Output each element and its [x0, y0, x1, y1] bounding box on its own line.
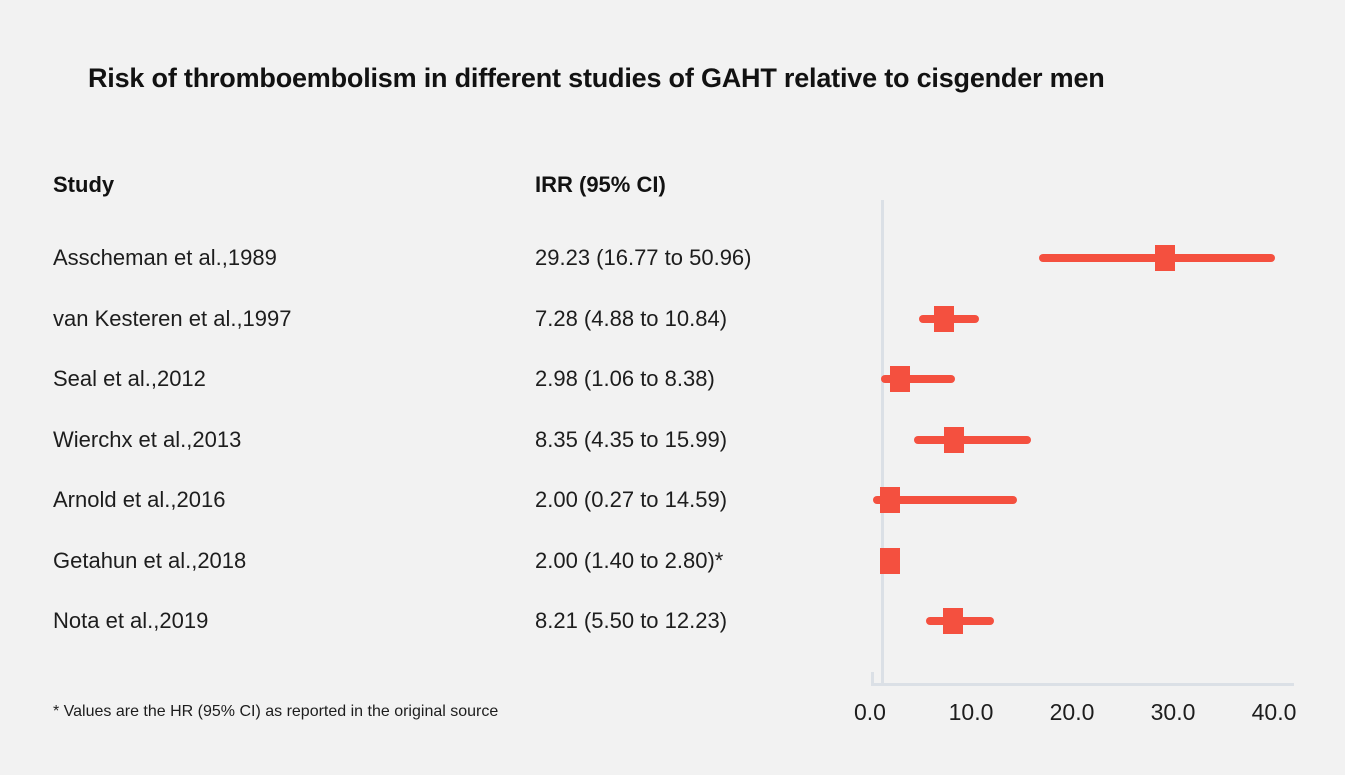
irr-value: 2.98 (1.06 to 8.38)	[535, 364, 715, 394]
footnote: * Values are the HR (95% CI) as reported…	[53, 703, 498, 721]
irr-value: 7.28 (4.88 to 10.84)	[535, 304, 727, 334]
study-rows: Asscheman et al.,198929.23 (16.77 to 50.…	[0, 0, 1345, 775]
study-label: Arnold et al.,2016	[53, 485, 225, 515]
irr-value: 8.21 (5.50 to 12.23)	[535, 606, 727, 636]
table-row: Wierchx et al.,20138.35 (4.35 to 15.99)	[0, 425, 1345, 485]
irr-value: 8.35 (4.35 to 15.99)	[535, 425, 727, 455]
irr-value: 2.00 (1.40 to 2.80)*	[535, 546, 723, 576]
table-row: Getahun et al.,20182.00 (1.40 to 2.80)*	[0, 546, 1345, 606]
study-label: Getahun et al.,2018	[53, 546, 246, 576]
study-label: Seal et al.,2012	[53, 364, 206, 394]
study-label: Nota et al.,2019	[53, 606, 208, 636]
table-row: Nota et al.,20198.21 (5.50 to 12.23)	[0, 606, 1345, 666]
table-row: Asscheman et al.,198929.23 (16.77 to 50.…	[0, 243, 1345, 303]
forest-plot-page: Risk of thromboembolism in different stu…	[0, 0, 1345, 775]
table-row: Seal et al.,20122.98 (1.06 to 8.38)	[0, 364, 1345, 424]
study-label: van Kesteren et al.,1997	[53, 304, 292, 334]
table-row: Arnold et al.,20162.00 (0.27 to 14.59)	[0, 485, 1345, 545]
irr-value: 2.00 (0.27 to 14.59)	[535, 485, 727, 515]
table-row: van Kesteren et al.,19977.28 (4.88 to 10…	[0, 304, 1345, 364]
study-label: Asscheman et al.,1989	[53, 243, 277, 273]
study-label: Wierchx et al.,2013	[53, 425, 241, 455]
irr-value: 29.23 (16.77 to 50.96)	[535, 243, 752, 273]
